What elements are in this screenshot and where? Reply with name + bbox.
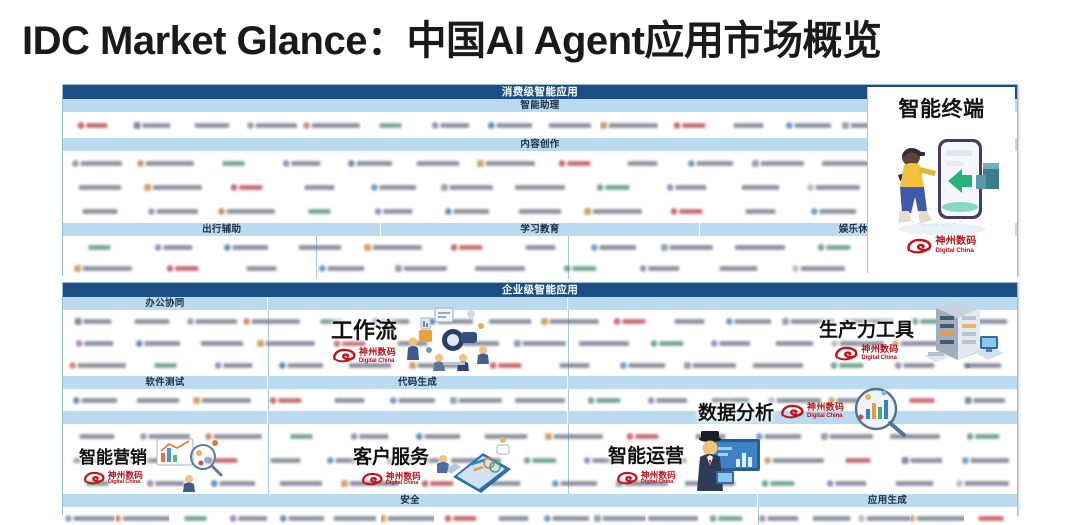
- vendor-logo: [776, 341, 813, 346]
- vendor-logo: [395, 265, 447, 272]
- logo-cell: [357, 236, 430, 258]
- logo-cell: [210, 199, 283, 223]
- logo-cell: [328, 507, 381, 525]
- logo-cell: [600, 112, 660, 138]
- logo-cell: [63, 424, 131, 448]
- logo-cell: [131, 472, 199, 494]
- logo-cell: [763, 332, 827, 354]
- logo-cell: [445, 389, 509, 411]
- logo-cell: [826, 332, 890, 354]
- vendor-logo: [116, 515, 169, 522]
- vendor-logo: [782, 318, 834, 325]
- logo-cell: [858, 507, 911, 525]
- vendor-logo: [371, 184, 416, 191]
- vendor-logo: [627, 161, 657, 166]
- logo-cell: [361, 310, 421, 332]
- vendor-logo: [709, 515, 742, 522]
- vendor-logo: [134, 122, 170, 129]
- logo-cell: [744, 151, 812, 175]
- vendor-logo: [614, 318, 646, 325]
- vendor-logo: [137, 398, 179, 403]
- vendor-logo: [334, 398, 364, 403]
- enterprise-header: 企业级智能应用: [63, 283, 1017, 297]
- logo-cell: [650, 199, 723, 223]
- vendor-logo: [303, 122, 360, 129]
- logo-row-e2: [63, 332, 1017, 354]
- vendor-logo: [224, 244, 268, 251]
- vendor-logo: [146, 480, 183, 487]
- enterprise-panel: 企业级智能应用 办公协同 软件测试 代码生成: [62, 282, 1018, 515]
- vendor-logo: [620, 362, 665, 369]
- section-band-e1c: [568, 297, 1017, 310]
- logo-cell: [659, 112, 719, 138]
- vendor-logo: [811, 208, 856, 215]
- logo-cell: [676, 354, 744, 376]
- vendor-logo: [144, 184, 202, 191]
- logo-cell: [63, 472, 131, 494]
- logo-cell: [676, 151, 744, 175]
- vendor-logo: [648, 458, 685, 463]
- logo-cell: [283, 236, 356, 258]
- vendor-logo: [387, 457, 439, 464]
- logo-cell: [779, 258, 859, 279]
- vendor-logo: [647, 397, 686, 404]
- vendor-logo: [734, 123, 764, 128]
- vendor-logo: [86, 481, 108, 486]
- vendor-logo: [901, 457, 941, 464]
- vendor-logo: [74, 265, 132, 272]
- vendor-logo: [206, 457, 238, 464]
- vendor-logo: [756, 433, 801, 440]
- logo-cell: [381, 507, 434, 525]
- slide-root: IDC Market Glance：中国AI Agent应用市场概览 消费级智能…: [0, 0, 1080, 525]
- logo-cell: [136, 236, 209, 258]
- logo-cell: [964, 507, 1017, 525]
- vendor-logo: [695, 434, 725, 439]
- vendor-logo: [80, 434, 115, 439]
- logo-row-e4: [63, 389, 1017, 411]
- vendor-logo: [525, 245, 555, 250]
- logo-cell: [472, 151, 540, 175]
- vendor-logo: [601, 122, 659, 129]
- logo-cell: [127, 448, 191, 472]
- vendor-logo: [515, 185, 565, 190]
- logo-cell: [957, 310, 1017, 332]
- logo-cell: [275, 507, 328, 525]
- vendor-logo: [704, 457, 757, 464]
- vendor-logo: [519, 209, 561, 214]
- section-band-codegen: 代码生成: [268, 376, 568, 389]
- vendor-logo: [211, 480, 255, 487]
- section-band-security: 安全: [63, 494, 758, 507]
- logo-cell: [508, 389, 572, 411]
- enterprise-band-1: 办公协同: [63, 297, 1017, 310]
- logo-cell: [116, 507, 169, 525]
- logo-cell: [838, 310, 898, 332]
- logo-cell: [199, 424, 267, 448]
- logo-cell: [190, 389, 254, 411]
- vendor-logo: [195, 123, 230, 128]
- logo-cell: [63, 151, 131, 175]
- logo-cell: [199, 151, 267, 175]
- vendor-logo: [283, 160, 320, 167]
- callout-title-smart-terminal: 智能终端: [899, 93, 985, 123]
- vendor-logo: [753, 160, 805, 167]
- logo-cell: [724, 175, 797, 199]
- logo-cell: [572, 389, 636, 411]
- vendor-logo: [688, 160, 733, 167]
- vendor-logo: [735, 245, 785, 250]
- logo-cell: [336, 424, 404, 448]
- logo-cell: [63, 112, 123, 138]
- vendor-logo: [319, 265, 364, 272]
- logo-cell: [63, 332, 127, 354]
- vendor-logo: [390, 397, 435, 404]
- logo-cell: [361, 112, 421, 138]
- logo-cell: [699, 332, 763, 354]
- logo-cell: [127, 389, 191, 411]
- logo-cell: [283, 199, 356, 223]
- logo-cell: [881, 472, 949, 494]
- logo-cell: [676, 472, 744, 494]
- logo-cell: [434, 507, 487, 525]
- vendor-logo: [544, 515, 589, 522]
- logo-cell: [724, 199, 797, 223]
- vendor-logo: [822, 161, 872, 166]
- logo-cell: [949, 424, 1017, 448]
- vendor-logo: [579, 341, 629, 346]
- person-with-phone-illustration: [876, 123, 1008, 241]
- logo-cell: [242, 310, 302, 332]
- vendor-logo: [911, 515, 964, 522]
- vendor-logo: [551, 480, 596, 487]
- logo-cell: [302, 310, 362, 332]
- section-band-office: 办公协同: [63, 297, 268, 310]
- logo-cell: [302, 258, 382, 279]
- logo-cell: [890, 448, 954, 472]
- logo-cell: [317, 332, 381, 354]
- vendor-logo: [280, 481, 322, 486]
- vendor-logo: [685, 481, 735, 486]
- vendor-logo: [349, 363, 391, 368]
- logo-cell: [336, 354, 404, 376]
- vendor-logo: [768, 397, 821, 404]
- vendor-logo: [375, 208, 412, 215]
- vendor-logo: [477, 160, 535, 167]
- vendor-logo: [148, 208, 198, 215]
- vendor-logo: [754, 363, 804, 368]
- logo-cell: [898, 310, 958, 332]
- logo-cell: [699, 507, 752, 525]
- vendor-logo: [445, 515, 477, 522]
- vendor-logo: [549, 123, 591, 128]
- logo-cell: [487, 507, 540, 525]
- logo-cell: [813, 424, 881, 448]
- logo-cell: [317, 448, 381, 472]
- vendor-logo: [247, 122, 297, 129]
- logo-cell: [650, 236, 723, 258]
- logo-cell: [699, 448, 763, 472]
- vendor-logo: [845, 458, 870, 463]
- logo-cell: [480, 310, 540, 332]
- vendor-logo: [830, 362, 863, 369]
- brand-logo-terminal: 神州数码 Digital China: [906, 237, 976, 255]
- vendor-logo: [279, 362, 323, 369]
- vendor-logo: [909, 398, 934, 403]
- vendor-logo: [154, 363, 176, 368]
- logo-cell: [381, 332, 445, 354]
- vendor-logo: [364, 244, 422, 251]
- vendor-logo: [270, 397, 302, 404]
- logo-cell: [752, 507, 805, 525]
- vendor-logo: [792, 265, 845, 272]
- vendor-logo: [271, 458, 301, 463]
- section-band-e3a: [63, 411, 268, 424]
- logo-cell: [953, 448, 1017, 472]
- logo-cell: [540, 354, 608, 376]
- vendor-logo: [911, 318, 944, 325]
- vendor-logo: [726, 318, 771, 325]
- vendor-logo: [231, 184, 263, 191]
- section-band-education: 学习教育: [381, 223, 699, 236]
- vendor-logo: [558, 160, 590, 167]
- logo-cell: [267, 472, 335, 494]
- vendor-logo: [140, 433, 190, 440]
- vendor-logo: [741, 185, 778, 190]
- vendor-logo: [968, 318, 1007, 325]
- logo-cell: [445, 332, 509, 354]
- vendor-logo: [817, 244, 850, 251]
- vendor-logo: [351, 433, 388, 440]
- vendor-logo: [79, 185, 121, 190]
- logo-cell: [503, 236, 576, 258]
- logo-cell: [608, 424, 676, 448]
- vendor-logo: [858, 515, 911, 522]
- vendor-logo: [892, 340, 952, 347]
- logo-cell: [508, 332, 572, 354]
- logo-cell: [430, 199, 503, 223]
- vendor-logo: [290, 434, 312, 439]
- page-title: IDC Market Glance：中国AI Agent应用市场概览: [22, 16, 1072, 66]
- logo-cell: [131, 354, 199, 376]
- vendor-logo: [489, 319, 531, 324]
- vendor-logo: [445, 208, 489, 215]
- logo-cell: [317, 389, 381, 411]
- logo-cell: [608, 151, 676, 175]
- logo-cell: [699, 389, 763, 411]
- vendor-logo: [422, 480, 454, 487]
- logo-cell: [577, 199, 650, 223]
- logo-cell: [813, 472, 881, 494]
- logo-cell: [381, 389, 445, 411]
- logo-cell: [242, 112, 302, 138]
- logo-row-e1: [63, 310, 1017, 332]
- logo-cell: [503, 175, 576, 199]
- vendor-logo: [130, 457, 188, 464]
- logo-cell: [267, 151, 335, 175]
- logo-cell: [63, 389, 127, 411]
- logo-cell: [254, 332, 318, 354]
- logo-cell: [881, 424, 949, 448]
- vendor-logo: [201, 341, 243, 346]
- logo-cell: [63, 175, 136, 199]
- logo-cell: [421, 112, 481, 138]
- logo-cell: [182, 112, 242, 138]
- logo-cell: [131, 424, 199, 448]
- vendor-logo: [166, 265, 198, 272]
- vendor-logo: [712, 398, 749, 403]
- vendor-logo: [661, 244, 713, 251]
- enterprise-band-4: 安全 应用生成: [63, 494, 1017, 507]
- vendor-logo: [827, 480, 866, 487]
- vendor-logo: [648, 516, 698, 521]
- consumer-panel: 消费级智能应用 智能助理 内容创作 出行辅助 学习教育 娱乐休闲 智能终端: [62, 84, 1018, 276]
- vendor-logo: [674, 319, 704, 324]
- vendor-logo: [154, 244, 191, 251]
- logo-cell: [953, 389, 1017, 411]
- logo-cell: [763, 389, 827, 411]
- vendor-logo: [135, 319, 170, 324]
- logo-cell: [719, 112, 779, 138]
- enterprise-band-2: 软件测试 代码生成: [63, 376, 1017, 389]
- vendor-logo: [585, 208, 643, 215]
- logo-cell: [540, 310, 600, 332]
- logo-cell: [797, 236, 870, 258]
- logo-cell: [63, 354, 131, 376]
- vendor-logo: [616, 480, 668, 487]
- vendor-logo: [978, 516, 1003, 521]
- vendor-logo: [380, 123, 402, 128]
- logo-cell: [63, 199, 136, 223]
- logo-cell: [503, 199, 576, 223]
- logo-cell: [763, 448, 827, 472]
- vendor-logo: [279, 515, 323, 522]
- logo-cell: [123, 310, 183, 332]
- section-band-travel: 出行辅助: [63, 223, 381, 236]
- logo-cell: [210, 236, 283, 258]
- logo-cell: [540, 112, 600, 138]
- logo-cell: [949, 354, 1017, 376]
- logo-cell: [577, 175, 650, 199]
- vendor-logo: [257, 340, 315, 347]
- logo-cell: [635, 448, 699, 472]
- vendor-logo: [956, 480, 1009, 487]
- logo-cell: [540, 507, 593, 525]
- vendor-logo: [299, 245, 341, 250]
- vendor-logo: [230, 515, 267, 522]
- vendor-logo: [73, 397, 117, 404]
- logo-cell: [890, 389, 954, 411]
- logo-cell: [650, 175, 723, 199]
- logo-cell: [143, 258, 223, 279]
- logo-cell: [724, 236, 797, 258]
- logo-row-e8: [63, 507, 1017, 525]
- logo-cell: [190, 448, 254, 472]
- logo-cell: [797, 199, 870, 223]
- vendor-logo: [490, 362, 522, 369]
- logo-cell: [699, 258, 779, 279]
- logo-cell: [404, 151, 472, 175]
- logo-cell: [719, 310, 779, 332]
- logo-cell: [593, 507, 646, 525]
- vendor-logo: [651, 340, 684, 347]
- vendor-logo: [74, 458, 116, 463]
- vendor-logo: [896, 481, 933, 486]
- vendor-logo: [587, 397, 620, 404]
- vendor-logo: [205, 433, 262, 440]
- vendor-logo: [832, 340, 885, 347]
- section-band-e1b: [268, 297, 568, 310]
- section-band-appgen: 应用生成: [758, 494, 1017, 507]
- logo-cell: [267, 424, 335, 448]
- vendor-logo: [441, 184, 493, 191]
- logo-cell: [540, 258, 620, 279]
- vendor-logo: [488, 122, 532, 129]
- logo-cell: [336, 472, 404, 494]
- logo-cell: [953, 332, 1017, 354]
- vendor-logo: [515, 398, 565, 403]
- logo-cell: [127, 332, 191, 354]
- logo-cell: [404, 424, 472, 448]
- vendor-logo: [965, 397, 1005, 404]
- logo-cell: [911, 507, 964, 525]
- vendor-logo: [673, 122, 705, 129]
- logo-cell: [63, 310, 123, 332]
- vendor-logo: [541, 318, 599, 325]
- vendor-logo: [485, 434, 527, 439]
- logo-cell: [445, 448, 509, 472]
- vendor-logo: [215, 362, 252, 369]
- logo-cell: [222, 507, 275, 525]
- enterprise-band-3: [63, 411, 1017, 424]
- logo-cell: [572, 448, 636, 472]
- logo-cell: [136, 175, 209, 199]
- vendor-logo: [450, 397, 502, 404]
- logo-cell: [421, 310, 481, 332]
- logo-cell: [182, 310, 242, 332]
- logo-cell: [890, 332, 954, 354]
- vendor-logo: [964, 363, 1001, 368]
- logo-cell: [63, 236, 136, 258]
- logo-row-e6: [63, 448, 1017, 472]
- brand-name-en: Digital China: [935, 248, 976, 255]
- vendor-logo: [563, 265, 596, 272]
- vendor-logo: [821, 433, 873, 440]
- logo-cell: [600, 310, 660, 332]
- logo-cell: [949, 472, 1017, 494]
- logo-cell: [659, 310, 719, 332]
- vendor-logo: [973, 341, 998, 346]
- logo-cell: [540, 472, 608, 494]
- section-band-testing: 软件测试: [63, 376, 268, 389]
- vendor-logo: [807, 184, 860, 191]
- logo-cell: [63, 507, 116, 525]
- logo-cell: [123, 112, 183, 138]
- vendor-logo: [491, 481, 521, 486]
- vendor-logo: [89, 245, 111, 250]
- logo-cell: [381, 258, 461, 279]
- logo-cell: [508, 448, 572, 472]
- vendor-logo: [75, 318, 111, 325]
- vendor-logo: [320, 319, 342, 324]
- vendor-logo: [65, 515, 115, 522]
- callout-smart-terminal: 智能终端: [867, 87, 1015, 273]
- logo-cell: [635, 389, 699, 411]
- logo-cell: [744, 424, 812, 448]
- logo-row-e7: [63, 472, 1017, 494]
- vendor-logo: [559, 363, 589, 368]
- vendor-logo: [136, 340, 180, 347]
